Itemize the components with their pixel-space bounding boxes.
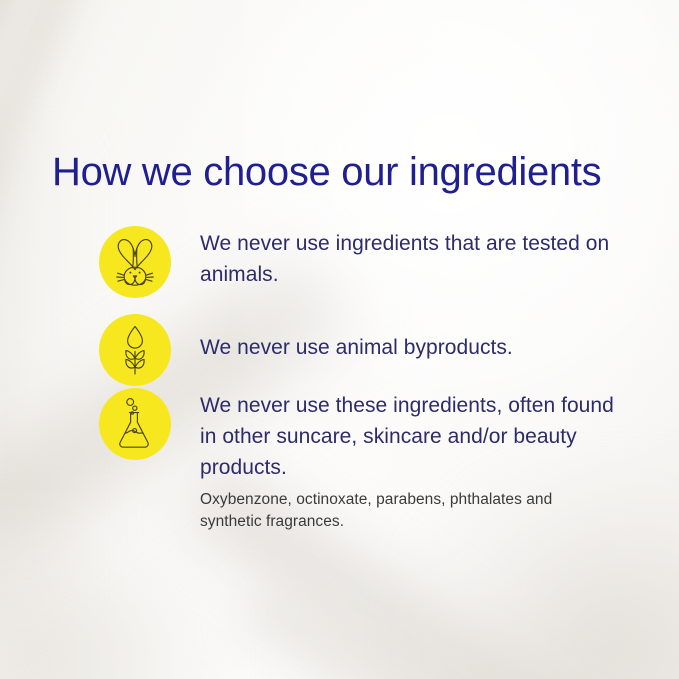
list-item-body: We never use these ingredients, often fo… (200, 390, 621, 483)
content-area: How we choose our ingredients (0, 0, 679, 679)
list-item-body: We never use animal byproducts. (200, 332, 513, 363)
list-item: We never use ingredients that are tested… (0, 226, 679, 290)
erlenmeyer-flask-bubbles-icon (99, 388, 171, 460)
promise-list: We never use ingredients that are tested… (0, 226, 679, 533)
ingredient-promise-card: How we choose our ingredients (0, 0, 679, 679)
list-item-text: We never use ingredients that are tested… (200, 226, 679, 290)
list-item: We never use animal byproducts. (0, 314, 679, 363)
plant-leaf-droplet-icon (99, 314, 171, 386)
list-item-text: We never use animal byproducts. (200, 314, 571, 363)
list-item-note: Oxybenzone, octinoxate, parabens, phthal… (200, 489, 560, 533)
list-item-text: We never use these ingredients, often fo… (200, 388, 679, 533)
page-title: How we choose our ingredients (52, 149, 601, 195)
list-item-body: We never use ingredients that are tested… (200, 228, 621, 290)
list-item: We never use these ingredients, often fo… (0, 388, 679, 533)
rabbit-heart-ears-icon (99, 226, 171, 298)
